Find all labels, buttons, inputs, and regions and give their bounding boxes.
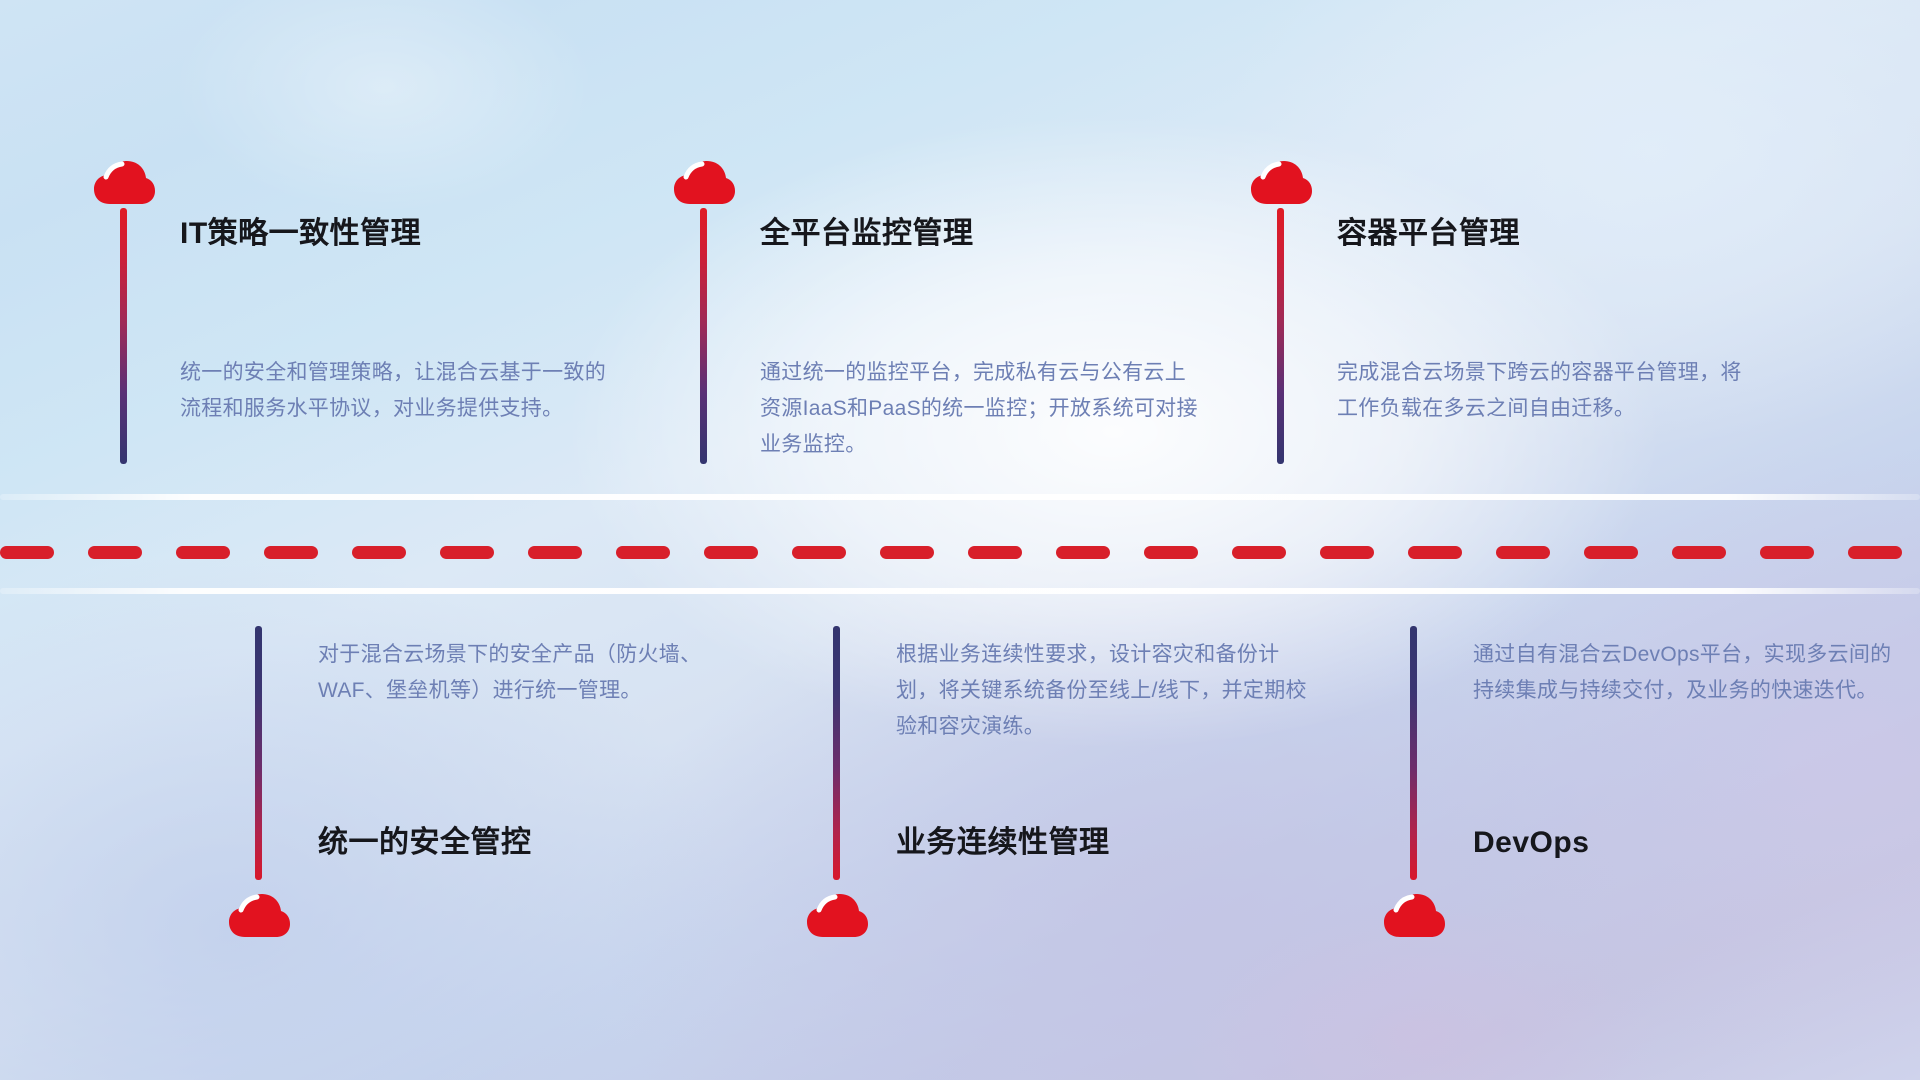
cloud-icon (1382, 893, 1446, 941)
connector-line (255, 626, 262, 880)
top-body-3: 完成混合云场景下跨云的容器平台管理，将工作负载在多云之间自由迁移。 (1337, 355, 1757, 427)
divider-dash (88, 546, 142, 559)
bottom-heading-2: 业务连续性管理 (896, 825, 1110, 861)
divider-dash (0, 546, 54, 559)
bottom-heading-3: DevOps (1473, 825, 1589, 861)
top-heading-1: IT策略一致性管理 (180, 216, 421, 252)
divider-dash (1056, 546, 1110, 559)
connector-line (1277, 208, 1284, 464)
divider-hairline-bottom (0, 588, 1920, 594)
top-body-1: 统一的安全和管理策略，让混合云基于一致的流程和服务水平协议，对业务提供支持。 (180, 355, 612, 427)
top-heading-3: 容器平台管理 (1337, 216, 1520, 252)
divider-hairline-top (0, 494, 1920, 500)
divider-dash (264, 546, 318, 559)
bottom-heading-1: 统一的安全管控 (318, 825, 532, 861)
divider-dash (1584, 546, 1638, 559)
top-body-2: 通过统一的监控平台，完成私有云与公有云上资源IaaS和PaaS的统一监控；开放系… (760, 355, 1200, 463)
divider-dash (880, 546, 934, 559)
divider-dash (1320, 546, 1374, 559)
divider-dash (1848, 546, 1902, 559)
divider-dash (968, 546, 1022, 559)
divider-dash (1496, 546, 1550, 559)
divider-dash (1408, 546, 1462, 559)
cloud-icon (92, 160, 156, 208)
divider-dash (440, 546, 494, 559)
divider-dash (1672, 546, 1726, 559)
cloud-icon (227, 893, 291, 941)
divider-dash (1144, 546, 1198, 559)
divider-dash (616, 546, 670, 559)
connector-line (833, 626, 840, 880)
connector-line (700, 208, 707, 464)
divider-dash (176, 546, 230, 559)
bottom-body-1: 对于混合云场景下的安全产品（防火墙、WAF、堡垒机等）进行统一管理。 (318, 637, 748, 709)
cloud-icon (805, 893, 869, 941)
cloud-icon (1249, 160, 1313, 208)
divider-dash (704, 546, 758, 559)
infographic-canvas: IT策略一致性管理 统一的安全和管理策略，让混合云基于一致的流程和服务水平协议，… (0, 0, 1920, 1080)
connector-line (120, 208, 127, 464)
cloud-icon (672, 160, 736, 208)
divider-dash (1232, 546, 1286, 559)
divider-dash (792, 546, 846, 559)
bottom-body-2: 根据业务连续性要求，设计容灾和备份计划，将关键系统备份至线上/线下，并定期校验和… (896, 637, 1316, 745)
connector-line (1410, 626, 1417, 880)
bottom-body-3: 通过自有混合云DevOps平台，实现多云间的持续集成与持续交付，及业务的快速迭代… (1473, 637, 1893, 709)
divider-dash (352, 546, 406, 559)
dashed-divider (0, 545, 1920, 559)
divider-dash (1760, 546, 1814, 559)
top-heading-2: 全平台监控管理 (760, 216, 974, 252)
divider-dash (528, 546, 582, 559)
